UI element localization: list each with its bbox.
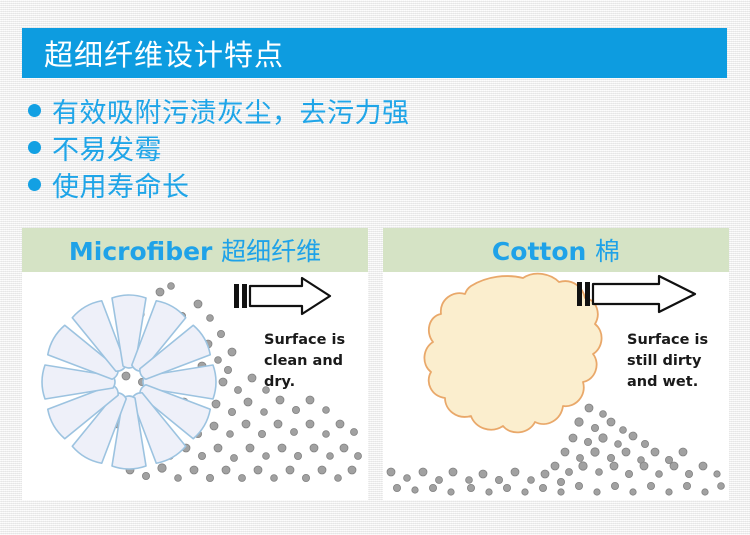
panel-microfiber-illustration: Surface is clean and dry. — [22, 272, 368, 500]
section-title-bar: 超细纤维设计特点 — [22, 28, 727, 78]
panel-microfiber-header: Microfiber 超细纤维 — [22, 228, 368, 272]
bullet-dot-icon — [28, 104, 41, 117]
bullet-dot-icon — [28, 141, 41, 154]
microfiber-star-shape — [42, 295, 216, 469]
panel-cotton-caption: Surface is still dirty and wet. — [627, 330, 708, 393]
bullet-text: 不易发霉 — [52, 128, 162, 167]
panel-microfiber-title-en: Microfiber — [69, 237, 212, 266]
cotton-blob-shape — [424, 274, 601, 433]
panel-cotton-title-en: Cotton — [492, 237, 586, 266]
product-feature-slide: 超细纤维设计特点 有效吸附污渍灰尘，去污力强 不易发霉 使用寿命长 Microf… — [0, 0, 750, 535]
page-title: 超细纤维设计特点 — [44, 32, 284, 74]
comparison-panels: Microfiber 超细纤维 — [22, 228, 728, 500]
panel-microfiber-caption: Surface is clean and dry. — [264, 330, 345, 393]
bullet-dot-icon — [28, 178, 41, 191]
wipe-direction-arrow-icon — [234, 278, 330, 314]
panel-microfiber-title: Microfiber 超细纤维 — [69, 232, 321, 268]
panel-microfiber: Microfiber 超细纤维 — [22, 228, 368, 500]
list-item: 使用寿命长 — [22, 166, 722, 203]
panel-cotton: Cotton 棉 — [383, 228, 729, 500]
feature-bullet-list: 有效吸附污渍灰尘，去污力强 不易发霉 使用寿命长 — [22, 92, 722, 203]
bullet-text: 使用寿命长 — [52, 165, 190, 204]
panel-cotton-title-cn: 棉 — [595, 237, 620, 266]
list-item: 不易发霉 — [22, 129, 722, 166]
panel-cotton-title: Cotton 棉 — [492, 232, 620, 268]
panel-cotton-header: Cotton 棉 — [383, 228, 729, 272]
list-item: 有效吸附污渍灰尘，去污力强 — [22, 92, 722, 129]
panel-microfiber-title-cn: 超细纤维 — [221, 237, 321, 266]
bullet-text: 有效吸附污渍灰尘，去污力强 — [52, 91, 410, 130]
panel-cotton-illustration: Surface is still dirty and wet. — [383, 272, 729, 500]
